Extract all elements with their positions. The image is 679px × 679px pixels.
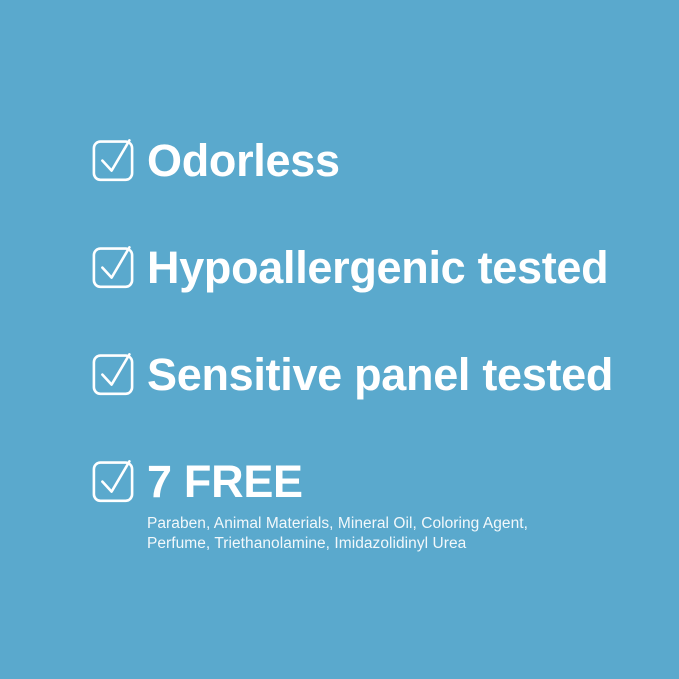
feature-panel: Odorless Hypoallergenic tested Sensitive…: [0, 0, 679, 679]
list-item-body: Odorless: [138, 136, 612, 186]
list-item-sublabel: Paraben, Animal Materials, Mineral Oil, …: [147, 514, 612, 554]
checked-checkbox-icon: [92, 459, 138, 505]
feature-checklist: Odorless Hypoallergenic tested Sensitive…: [92, 136, 612, 554]
list-item: Hypoallergenic tested: [92, 243, 612, 293]
sublabel-line: Paraben, Animal Materials, Mineral Oil, …: [147, 514, 612, 534]
checked-checkbox-icon: [92, 352, 138, 398]
list-item: Sensitive panel tested: [92, 350, 612, 400]
list-item-label: Sensitive panel tested: [147, 350, 612, 400]
list-item-body: Hypoallergenic tested: [138, 243, 612, 293]
list-item-label: Hypoallergenic tested: [147, 243, 612, 293]
sublabel-line: Perfume, Triethanolamine, Imidazolidinyl…: [147, 534, 612, 554]
checked-checkbox-icon: [92, 245, 138, 291]
list-item-label: 7 FREE: [147, 457, 612, 507]
list-item-body: 7 FREE Paraben, Animal Materials, Minera…: [138, 457, 612, 554]
list-item-label: Odorless: [147, 136, 612, 186]
list-item: Odorless: [92, 136, 612, 186]
checked-checkbox-icon: [92, 138, 138, 184]
list-item: 7 FREE Paraben, Animal Materials, Minera…: [92, 457, 612, 554]
list-item-body: Sensitive panel tested: [138, 350, 612, 400]
